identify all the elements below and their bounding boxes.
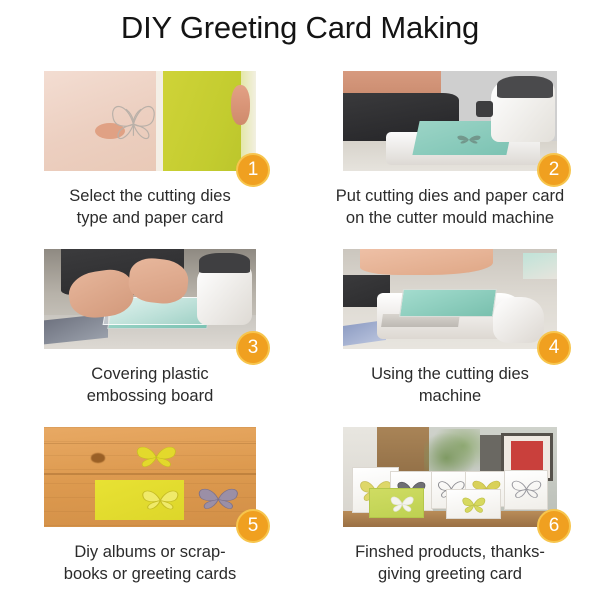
butterfly-die-icon: [454, 132, 484, 146]
step-card-2: 2 Put cutting dies and paper card on the…: [300, 60, 600, 238]
step-2-caption-line-2: on the cutter mould machine: [314, 207, 586, 229]
infographic-page: DIY Greeting Card Making: [0, 0, 600, 600]
thumb: [231, 85, 250, 125]
step-4-caption-line-2: machine: [314, 385, 586, 407]
step-card-1: 1 Select the cutting dies type and paper…: [0, 60, 300, 238]
yellow-butterfly-cutout-icon: [133, 441, 180, 475]
step-1-photo: [44, 71, 256, 171]
step-badge-6: 6: [537, 509, 571, 543]
red-poster-art: [511, 441, 544, 472]
step-2-photo-wrap: 2: [343, 71, 557, 171]
machine-roller-housing: [493, 297, 544, 343]
step-6-caption-line-2: giving greeting card: [314, 563, 586, 585]
step-card-4: 4 Using the cutting dies machine: [300, 238, 600, 416]
plate-corner: [523, 253, 557, 279]
step-3-photo-wrap: 3: [44, 249, 256, 349]
machine-knob: [476, 101, 493, 117]
step-4-photo-wrap: 4: [343, 249, 557, 349]
step-5-photo-wrap: 5: [44, 427, 256, 527]
mint-cutting-plate: [399, 289, 497, 317]
step-4-caption: Using the cutting dies machine: [314, 363, 586, 407]
metal-butterfly-die-icon: [195, 483, 242, 517]
step-1-photo-wrap: 1: [44, 71, 256, 171]
step-5-caption-line-2: books or greeting cards: [19, 563, 281, 585]
greeting-card-green: [369, 488, 425, 518]
step-badge-4: 4: [537, 331, 571, 365]
step-3-caption: Covering plastic embossing board: [19, 363, 281, 407]
steps-grid: 1 Select the cutting dies type and paper…: [0, 60, 600, 600]
hands-arm: [360, 249, 493, 275]
page-title: DIY Greeting Card Making: [0, 8, 600, 48]
step-5-caption-line-1: Diy albums or scrap-: [19, 541, 281, 563]
step-1-caption-line-2: type and paper card: [19, 207, 281, 229]
step-badge-2: 2: [537, 153, 571, 187]
machine-handle: [199, 253, 250, 273]
step-badge-1: 1: [236, 153, 270, 187]
step-1-caption-line-1: Select the cutting dies: [19, 185, 281, 207]
step-4-photo: [343, 249, 557, 349]
step-3-photo: [44, 249, 256, 349]
step-6-photo: [343, 427, 557, 527]
step-6-caption: Finshed products, thanks- giving greetin…: [314, 541, 586, 585]
step-5-caption: Diy albums or scrap- books or greeting c…: [19, 541, 281, 585]
step-2-caption: Put cutting dies and paper card on the c…: [314, 185, 586, 229]
plants: [424, 429, 480, 477]
step-2-photo: [343, 71, 557, 171]
step-6-caption-line-1: Finshed products, thanks-: [314, 541, 586, 563]
machine-handle: [497, 76, 553, 98]
step-badge-5: 5: [236, 509, 270, 543]
step-3-caption-line-1: Covering plastic: [19, 363, 281, 385]
step-card-3: 3 Covering plastic embossing board: [0, 238, 300, 416]
butterfly-die-icon: [108, 96, 159, 154]
step-card-6: 6 Finshed products, thanks- giving greet…: [300, 416, 600, 600]
greeting-card: [446, 489, 502, 519]
greeting-card: [504, 470, 549, 510]
step-4-caption-line-1: Using the cutting dies: [314, 363, 586, 385]
step-badge-3: 3: [236, 331, 270, 365]
butterfly-negative-cutout-icon: [137, 484, 184, 518]
step-2-caption-line-1: Put cutting dies and paper card: [314, 185, 586, 207]
step-1-caption: Select the cutting dies type and paper c…: [19, 185, 281, 229]
step-6-photo-wrap: 6: [343, 427, 557, 527]
white-machine-body: [197, 265, 252, 325]
step-5-photo: [44, 427, 256, 527]
step-3-caption-line-2: embossing board: [19, 385, 281, 407]
step-card-5: 5 Diy albums or scrap- books or greeting…: [0, 416, 300, 600]
